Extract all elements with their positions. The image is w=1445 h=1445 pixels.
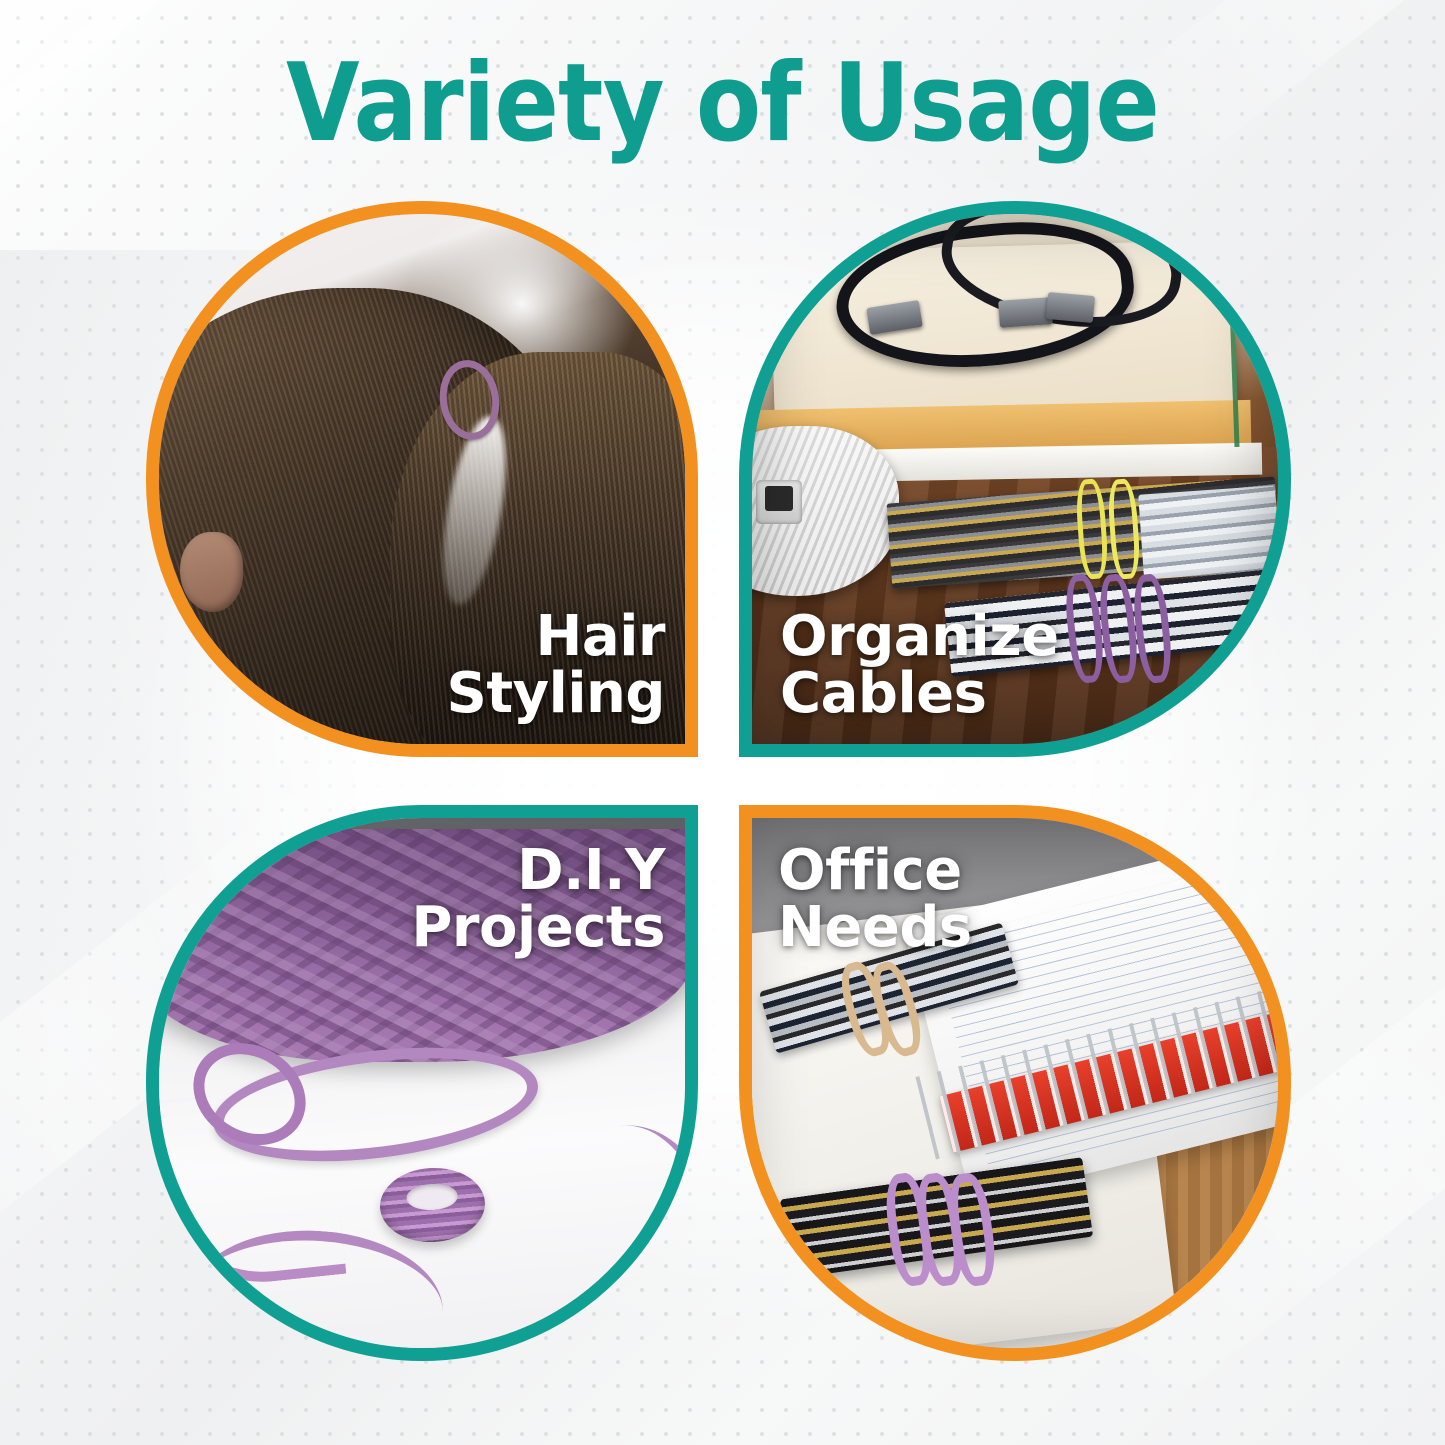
- quadrant-hair-styling[interactable]: Hair Styling: [146, 201, 698, 757]
- quadrant-office-needs[interactable]: Office Needs: [739, 805, 1291, 1361]
- quadrant-organize-cables[interactable]: Organize Cables: [739, 201, 1291, 757]
- label-hair-styling: Hair Styling: [447, 608, 665, 722]
- petal-grid: Hair Styling: [0, 0, 1445, 1445]
- label-office-needs: Office Needs: [778, 842, 972, 956]
- label-diy-projects: D.I.Y Projects: [411, 842, 665, 956]
- quadrant-diy-projects[interactable]: D.I.Y Projects: [146, 805, 698, 1361]
- infographic-canvas: Variety of Usage Hair Styling: [0, 0, 1445, 1445]
- label-organize-cables: Organize Cables: [780, 608, 1059, 722]
